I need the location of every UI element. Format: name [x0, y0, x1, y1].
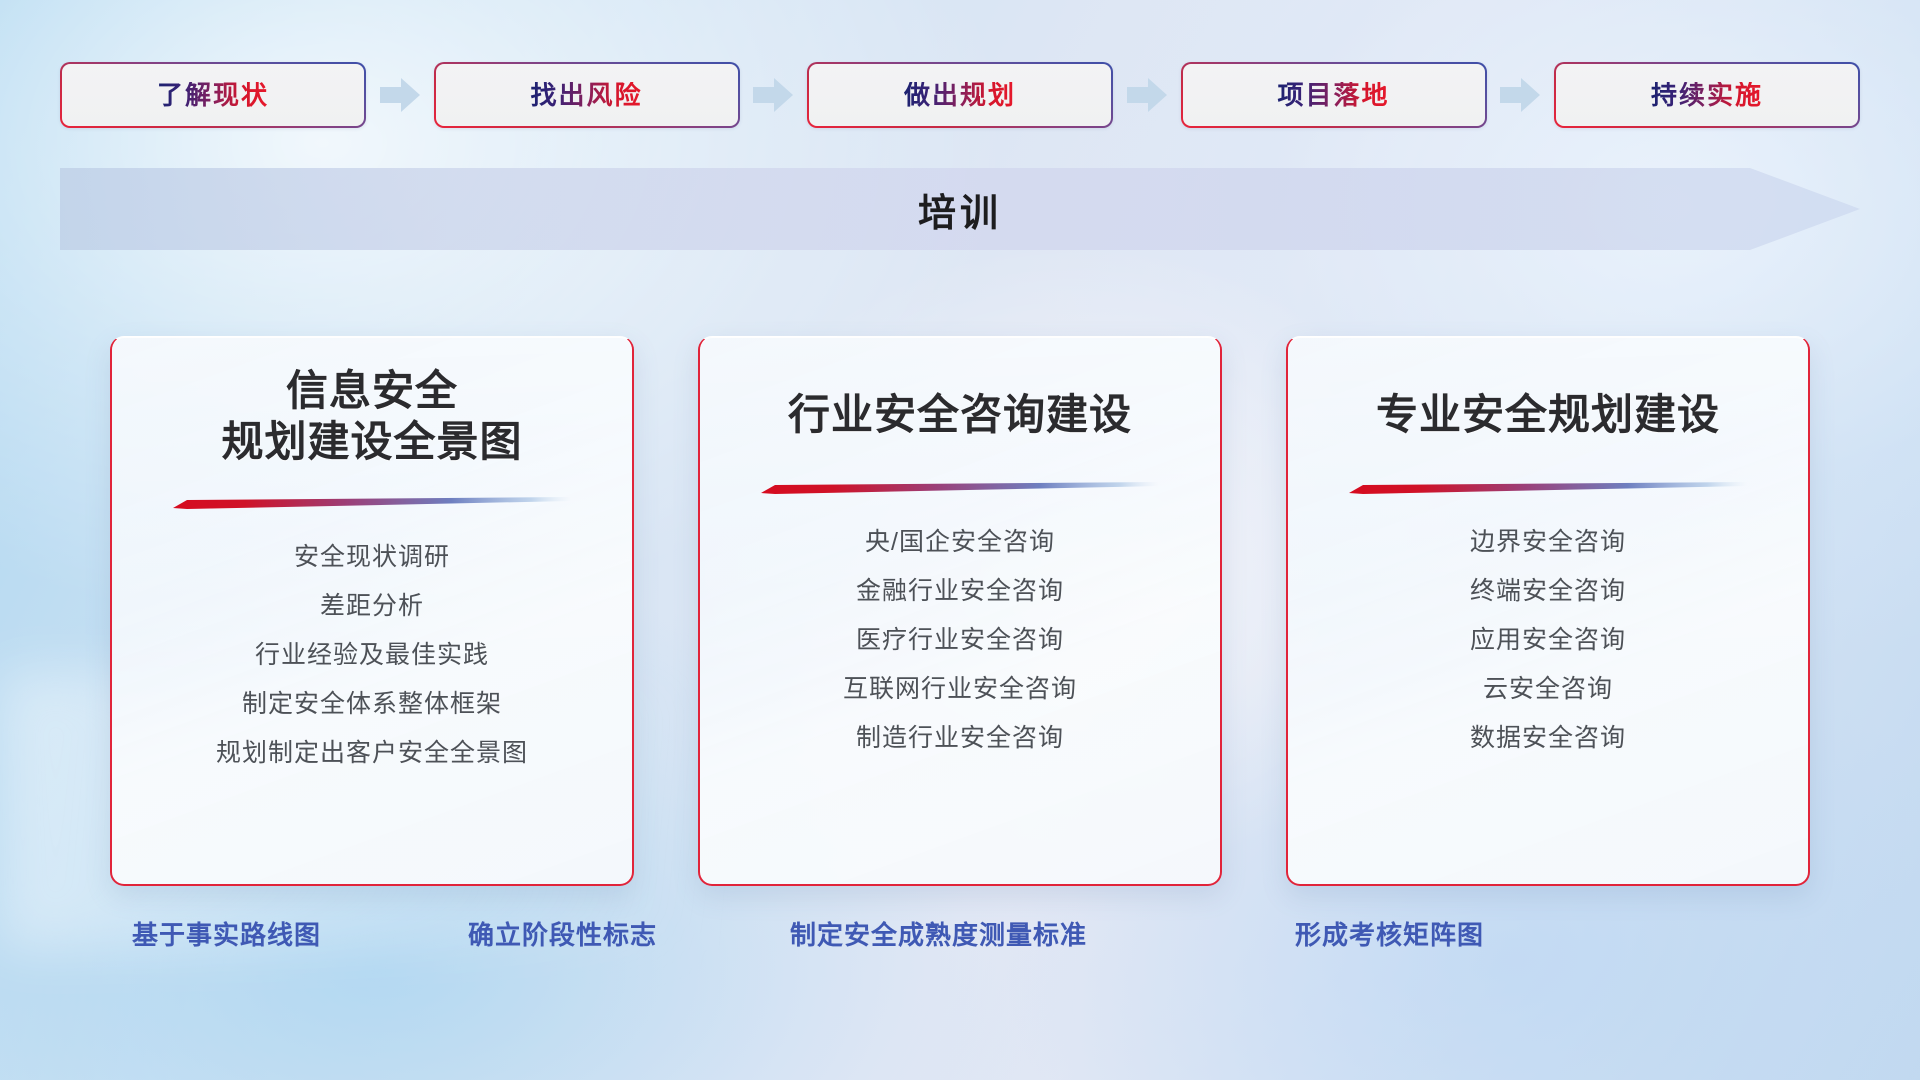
footnote-0: 基于事实路线图: [132, 915, 321, 952]
card-item-list: 央/国企安全咨询 金融行业安全咨询 医疗行业安全咨询 互联网行业安全咨询 制造行…: [700, 530, 1220, 751]
card-title: 行业安全咨询建设: [788, 389, 1132, 440]
card-divider-icon: [761, 482, 1159, 494]
process-step-bar: 了解现状 找出风险 做出规划 项目落地: [60, 62, 1860, 128]
footnote-2: 制定安全成熟度测量标准: [790, 915, 1087, 952]
process-step-0[interactable]: 了解现状: [60, 62, 366, 128]
process-step-2[interactable]: 做出规划: [807, 62, 1113, 128]
list-item: 医疗行业安全咨询: [700, 628, 1220, 653]
footnote-row: 基于事实路线图 确立阶段性标志 制定安全成熟度测量标准 形成考核矩阵图: [0, 915, 1920, 955]
card-title: 信息安全 规划建设全景图: [221, 365, 522, 467]
list-item: 应用安全咨询: [1288, 628, 1808, 653]
list-item: 边界安全咨询: [1288, 530, 1808, 555]
list-item: 制造行业安全咨询: [700, 726, 1220, 751]
card-divider-icon: [173, 497, 571, 509]
card-professional-security-planning[interactable]: 专业安全规划建设: [1286, 336, 1810, 886]
right-arrow-icon: [380, 78, 420, 112]
list-item: 行业经验及最佳实践: [112, 643, 632, 668]
card-information-security[interactable]: 信息安全 规划建设全景图: [110, 336, 634, 886]
right-arrow-icon: [1127, 78, 1167, 112]
right-arrow-icon: [1500, 78, 1540, 112]
list-item: 终端安全咨询: [1288, 579, 1808, 604]
card-divider-icon: [1349, 482, 1747, 494]
card-item-list: 安全现状调研 差距分析 行业经验及最佳实践 制定安全体系整体框架 规划制定出客户…: [112, 545, 632, 766]
process-step-label: 做出规划: [904, 82, 1016, 108]
card-title-line: 专业安全规划建设: [1376, 389, 1720, 440]
card-title: 专业安全规划建设: [1376, 389, 1720, 440]
process-step-label: 了解现状: [157, 82, 269, 108]
process-step-4[interactable]: 持续实施: [1554, 62, 1860, 128]
footnote-1: 确立阶段性标志: [468, 915, 657, 952]
card-industry-security-consulting[interactable]: 行业安全咨询建设: [698, 336, 1222, 886]
card-title-line: 行业安全咨询建设: [788, 389, 1132, 440]
process-step-label: 项目落地: [1277, 82, 1389, 108]
list-item: 央/国企安全咨询: [700, 530, 1220, 555]
process-step-1[interactable]: 找出风险: [434, 62, 740, 128]
list-item: 云安全咨询: [1288, 677, 1808, 702]
training-banner: 培训: [60, 168, 1860, 250]
footnote-3: 形成考核矩阵图: [1295, 915, 1484, 952]
right-arrow-icon: [753, 78, 793, 112]
card-item-list: 边界安全咨询 终端安全咨询 应用安全咨询 云安全咨询 数据安全咨询: [1288, 530, 1808, 751]
list-item: 互联网行业安全咨询: [700, 677, 1220, 702]
process-step-label: 找出风险: [530, 82, 642, 108]
process-step-3[interactable]: 项目落地: [1181, 62, 1487, 128]
card-title-line: 信息安全: [221, 365, 522, 416]
banner-title: 培训: [60, 168, 1860, 250]
process-step-label: 持续实施: [1651, 82, 1763, 108]
list-item: 规划制定出客户安全全景图: [112, 741, 632, 766]
list-item: 金融行业安全咨询: [700, 579, 1220, 604]
card-group: 信息安全 规划建设全景图: [110, 336, 1810, 886]
list-item: 差距分析: [112, 594, 632, 619]
list-item: 数据安全咨询: [1288, 726, 1808, 751]
card-title-line: 规划建设全景图: [221, 416, 522, 467]
list-item: 制定安全体系整体框架: [112, 692, 632, 717]
list-item: 安全现状调研: [112, 545, 632, 570]
